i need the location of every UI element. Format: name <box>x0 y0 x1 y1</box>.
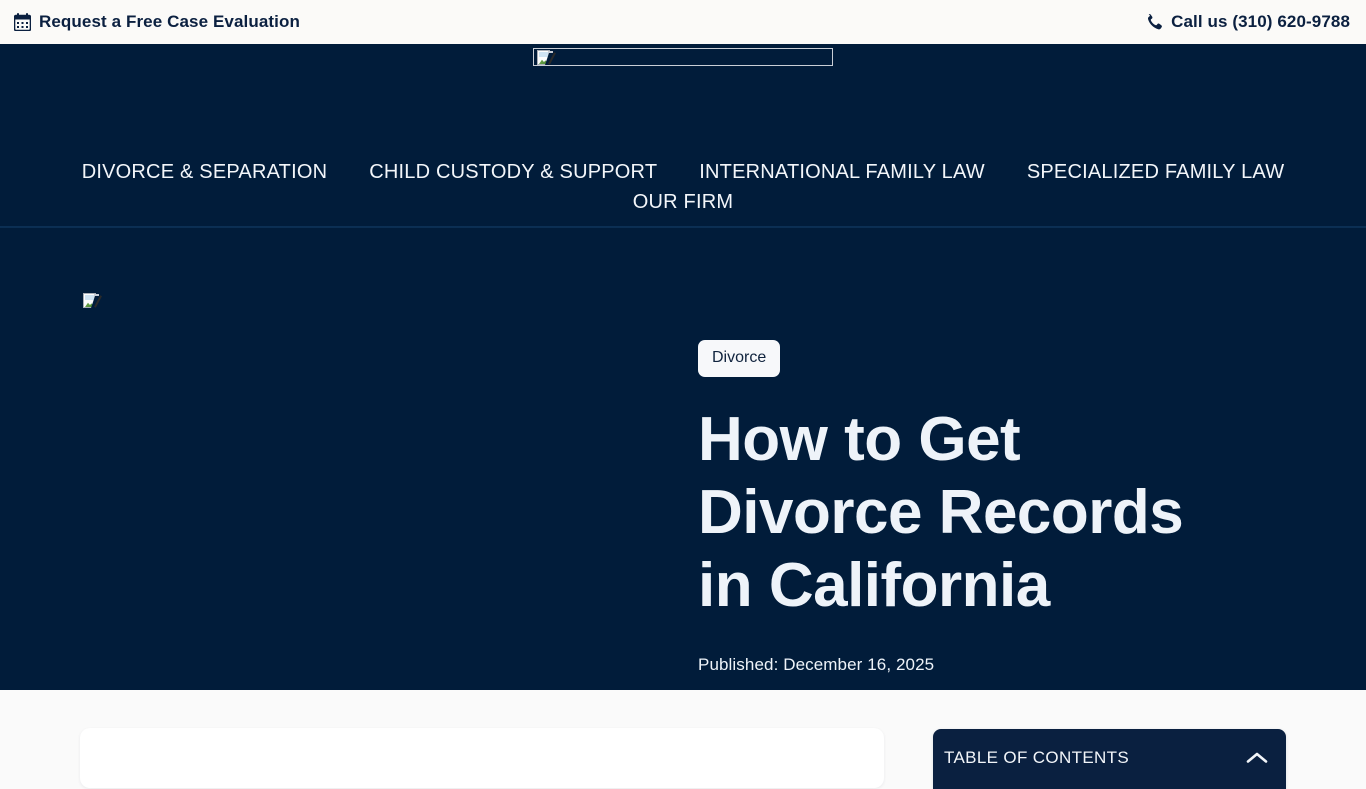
hero-section: Divorce How to Get Divorce Records in Ca… <box>0 228 1366 690</box>
nav-item-child-custody-support[interactable]: CHILD CUSTODY & SUPPORT <box>369 162 657 182</box>
article-body-card <box>80 728 884 788</box>
site-logo[interactable] <box>533 48 833 66</box>
published-date: Published: December 16, 2025 <box>698 655 1258 675</box>
top-utility-bar: Request a Free Case Evaluation Call us (… <box>0 0 1366 44</box>
call-us-link[interactable]: Call us (310) 620-9788 <box>1146 12 1352 32</box>
table-of-contents-toggle[interactable]: TABLE OF CONTENTS <box>933 729 1286 775</box>
nav-item-our-firm[interactable]: OUR FIRM <box>633 192 733 212</box>
table-of-contents-title: TABLE OF CONTENTS <box>944 748 1129 768</box>
main-content-area: TABLE OF CONTENTS <box>0 690 1366 768</box>
broken-image-icon <box>537 50 554 66</box>
nav-row-secondary: OUR FIRM <box>633 192 733 212</box>
free-case-evaluation-link[interactable]: Request a Free Case Evaluation <box>14 12 300 32</box>
chevron-up-icon[interactable] <box>1246 751 1268 765</box>
call-us-label: Call us (310) 620-9788 <box>1171 12 1350 32</box>
nav-row-primary: DIVORCE & SEPARATION CHILD CUSTODY & SUP… <box>82 162 1285 182</box>
phone-icon <box>1146 13 1163 31</box>
hero-copy: Divorce How to Get Divorce Records in Ca… <box>698 340 1258 675</box>
nav-item-international-family-law[interactable]: INTERNATIONAL FAMILY LAW <box>699 162 985 182</box>
free-case-evaluation-label: Request a Free Case Evaluation <box>39 12 300 32</box>
hero-featured-image <box>80 292 98 310</box>
table-of-contents-panel: TABLE OF CONTENTS <box>933 729 1286 789</box>
nav-item-divorce-separation[interactable]: DIVORCE & SEPARATION <box>82 162 328 182</box>
nav-item-specialized-family-law[interactable]: SPECIALIZED FAMILY LAW <box>1027 162 1284 182</box>
primary-navigation: DIVORCE & SEPARATION CHILD CUSTODY & SUP… <box>0 162 1366 212</box>
calendar-icon <box>14 13 31 31</box>
page-title: How to Get Divorce Records in California <box>698 403 1218 622</box>
broken-image-icon <box>83 293 100 309</box>
category-badge[interactable]: Divorce <box>698 340 780 377</box>
site-header: DIVORCE & SEPARATION CHILD CUSTODY & SUP… <box>0 44 1366 228</box>
